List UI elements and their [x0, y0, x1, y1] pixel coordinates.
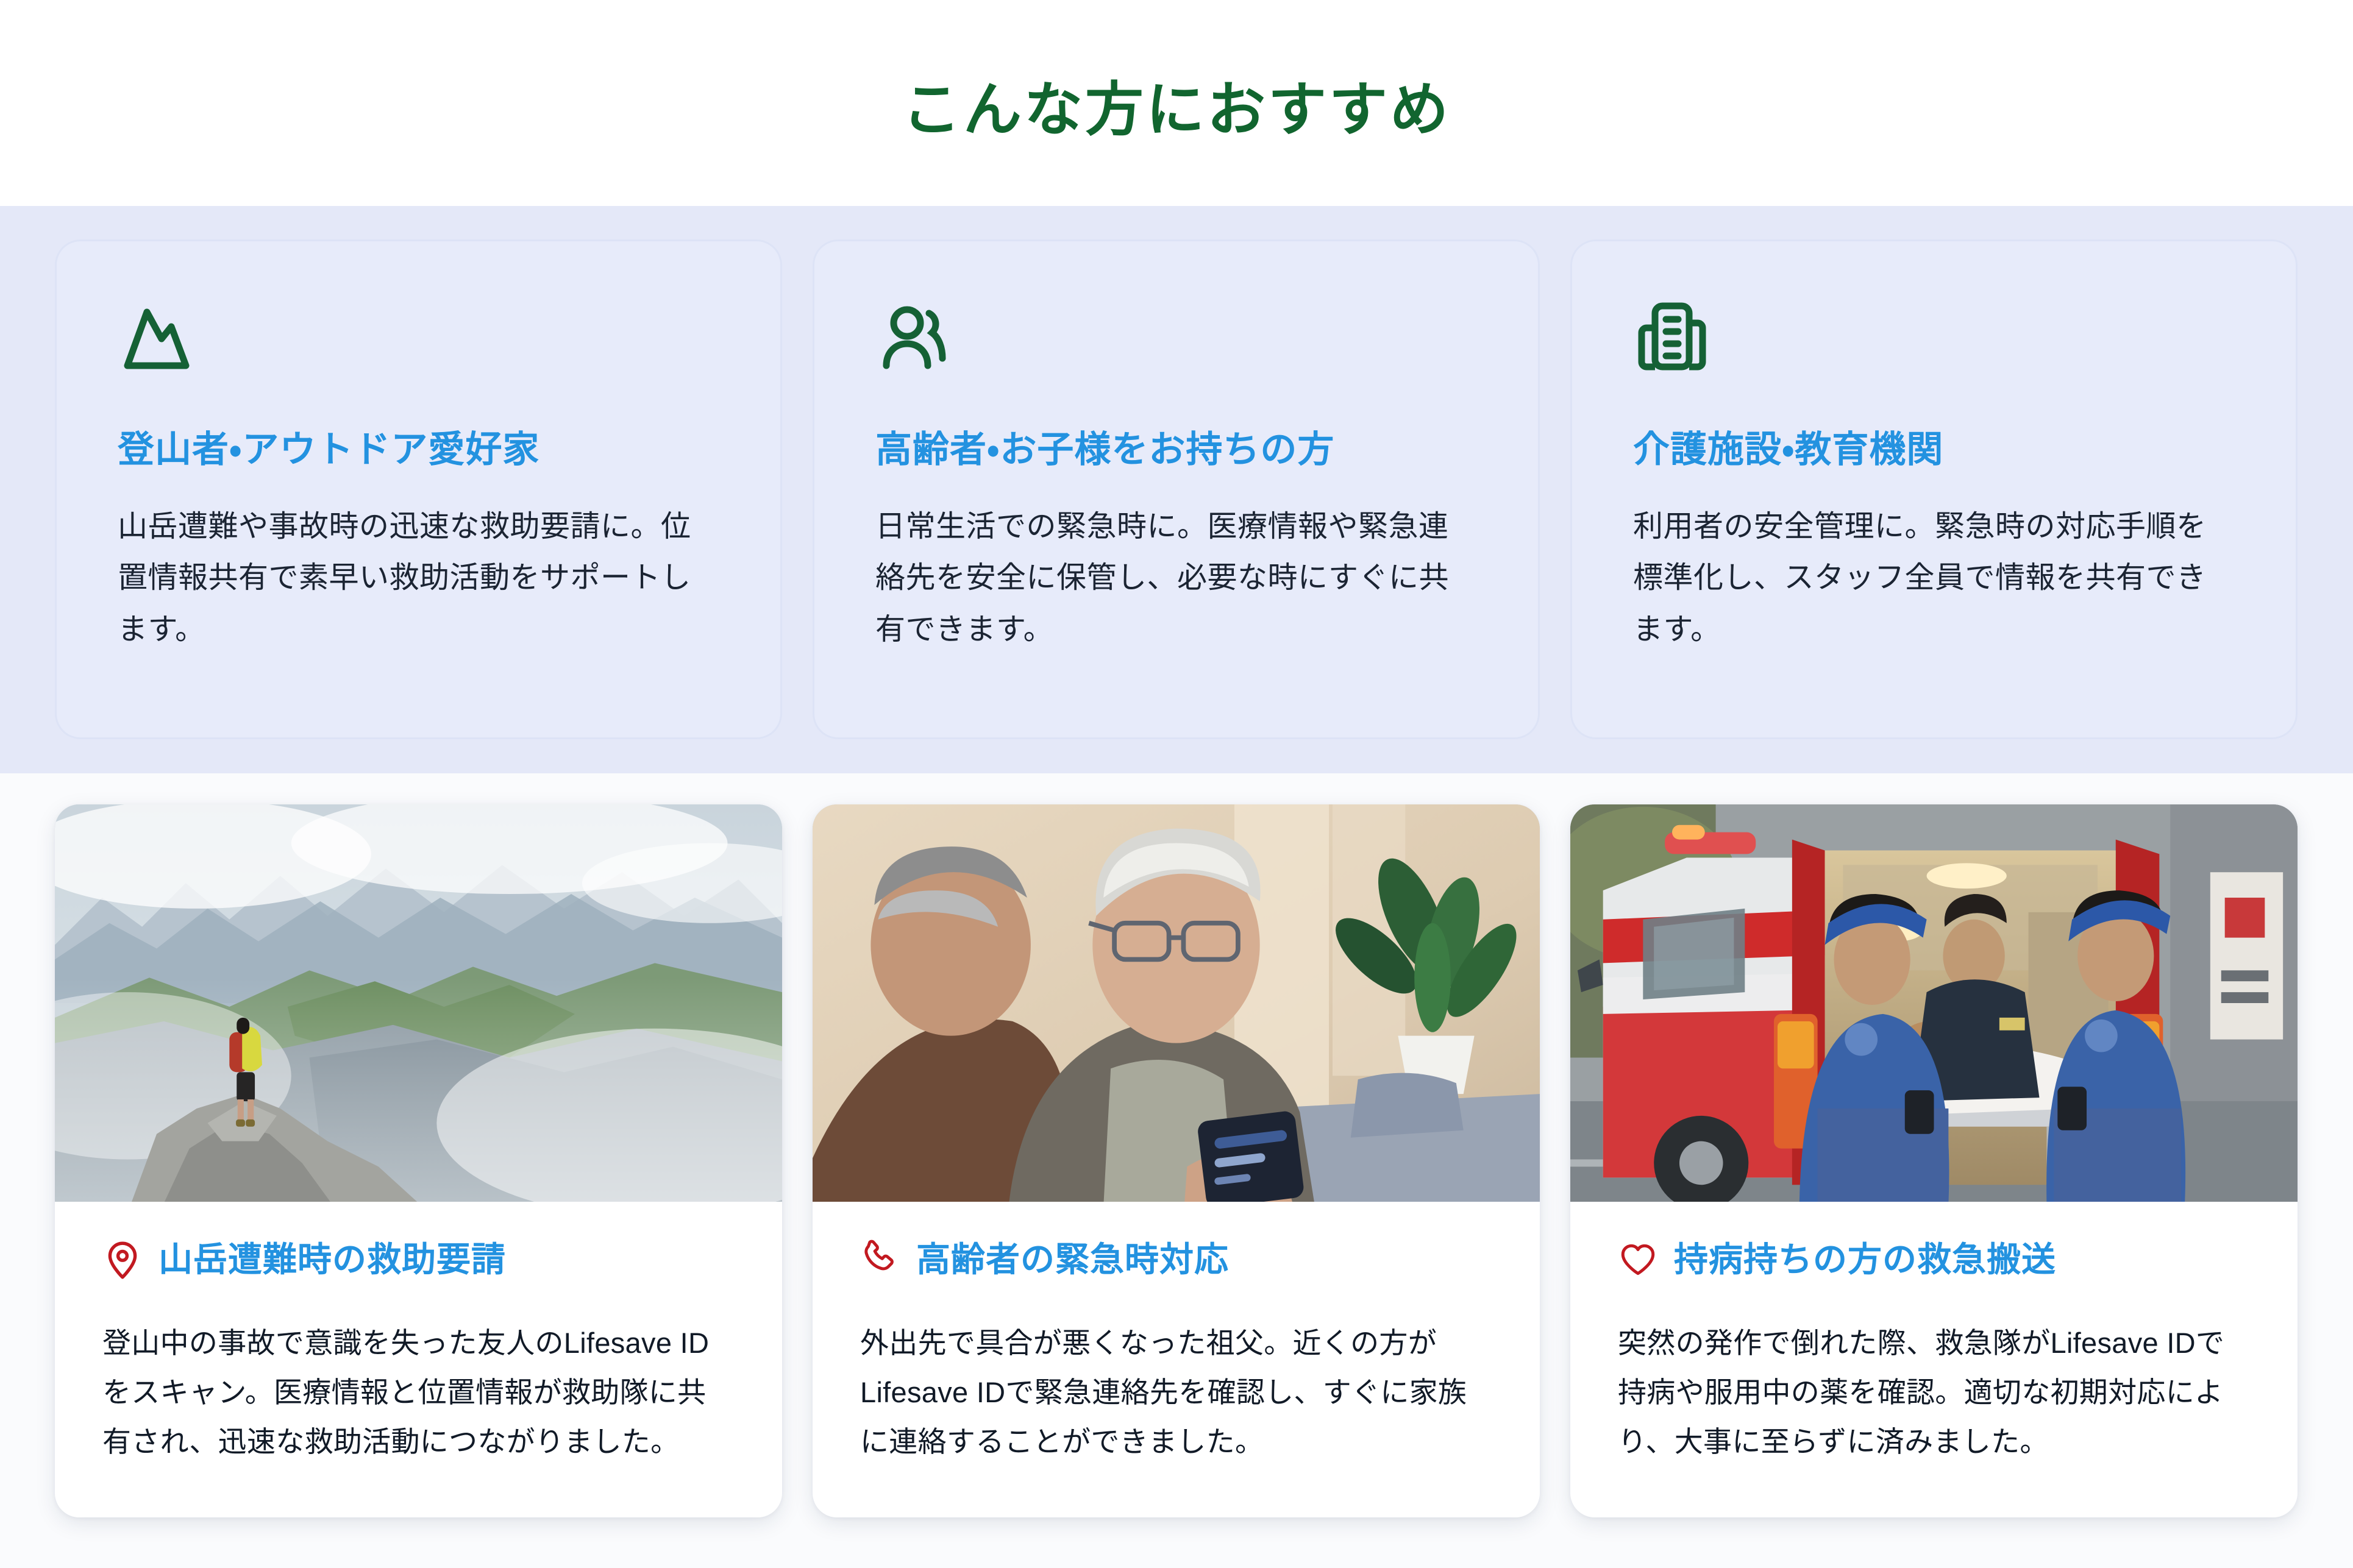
mountain-icon: [118, 297, 196, 375]
stories-section: 山岳遭難時の救助要請 登山中の事故で意識を失った友人のLifesave IDをス…: [0, 773, 2353, 1568]
story-heading-row: 高齢者の緊急時対応: [860, 1240, 1492, 1280]
story-heading-label: 山岳遭難時の救助要請: [158, 1241, 506, 1279]
heart-icon: [1618, 1240, 1658, 1280]
phone-icon: [860, 1240, 900, 1280]
story-text-block: 高齢者の緊急時対応 外出先で具合が悪くなった祖父。近くの方がLifesave I…: [813, 1202, 1540, 1466]
audience-card-body: 山岳遭難や事故時の迅速な救助要請に。位置情報共有で素早い救助活動をサポートします…: [118, 501, 719, 655]
audience-card-body: 利用者の安全管理に。緊急時の対応手順を標準化し、スタッフ全員で情報を共有できます…: [1633, 501, 2235, 655]
story-heading-row: 山岳遭難時の救助要請: [102, 1240, 735, 1280]
map-pin-icon: [102, 1240, 143, 1280]
story-heading-label: 高齢者の緊急時対応: [916, 1241, 1229, 1279]
story-body: 登山中の事故で意識を失った友人のLifesave IDをスキャン。医療情報と位置…: [102, 1319, 735, 1466]
story-heading-label: 持病持ちの方の救急搬送: [1674, 1241, 2056, 1279]
story-card-senior-emergency[interactable]: 高齢者の緊急時対応 外出先で具合が悪くなった祖父。近くの方がLifesave I…: [813, 804, 1540, 1517]
story-card-mountain-rescue[interactable]: 山岳遭難時の救助要請 登山中の事故で意識を失った友人のLifesave IDをス…: [55, 804, 782, 1517]
building-icon: [1633, 297, 1711, 375]
story-text-block: 持病持ちの方の救急搬送 突然の発作で倒れた際、救急隊がLifesave IDで持…: [1570, 1202, 2298, 1466]
page-title: こんな方におすすめ: [902, 78, 1451, 143]
audience-card-heading: 高齢者・お子様をお持ちの方: [875, 428, 1477, 472]
audience-card-heading: 介護施設・教育機関: [1633, 428, 2235, 472]
audience-section: 登山者・アウトドア愛好家 山岳遭難や事故時の迅速な救助要請に。位置情報共有で素早…: [0, 206, 2353, 773]
audience-card-body: 日常生活での緊急時に。医療情報や緊急連絡先を安全に保管し、必要な時にすぐに共有で…: [875, 501, 1477, 655]
users-icon: [875, 297, 953, 375]
hiker-on-mountain-cliff-photo: [55, 804, 782, 1202]
audience-card-seniors-children[interactable]: 高齢者・お子様をお持ちの方 日常生活での緊急時に。医療情報や緊急連絡先を安全に保…: [813, 239, 1540, 739]
audience-card-grid: 登山者・アウトドア愛好家 山岳遭難や事故時の迅速な救助要請に。位置情報共有で素早…: [55, 239, 2298, 739]
audience-card-heading: 登山者・アウトドア愛好家: [118, 428, 719, 472]
story-card-grid: 山岳遭難時の救助要請 登山中の事故で意識を失った友人のLifesave IDをス…: [55, 804, 2298, 1517]
landing-page-section: こんな方におすすめ 登山者・アウトドア愛好家 山岳遭難や事故時の迅速な救助要請に…: [0, 0, 2353, 1568]
audience-card-facilities-schools[interactable]: 介護施設・教育機関 利用者の安全管理に。緊急時の対応手順を標準化し、スタッフ全員…: [1570, 239, 2298, 739]
story-text-block: 山岳遭難時の救助要請 登山中の事故で意識を失った友人のLifesave IDをス…: [55, 1202, 782, 1466]
section-header: こんな方におすすめ: [0, 0, 2353, 206]
audience-card-hikers[interactable]: 登山者・アウトドア愛好家 山岳遭難や事故時の迅速な救助要請に。位置情報共有で素早…: [55, 239, 782, 739]
story-card-emergency-transport[interactable]: 持病持ちの方の救急搬送 突然の発作で倒れた際、救急隊がLifesave IDで持…: [1570, 804, 2298, 1517]
story-body: 突然の発作で倒れた際、救急隊がLifesave IDで持病や服用中の薬を確認。適…: [1618, 1319, 2250, 1466]
story-heading-row: 持病持ちの方の救急搬送: [1618, 1240, 2250, 1280]
story-body: 外出先で具合が悪くなった祖父。近くの方がLifesave IDで緊急連絡先を確認…: [860, 1319, 1492, 1466]
ambulance-paramedics-stretcher-photo: [1570, 804, 2298, 1202]
elderly-men-with-smartphone-photo: [813, 804, 1540, 1202]
